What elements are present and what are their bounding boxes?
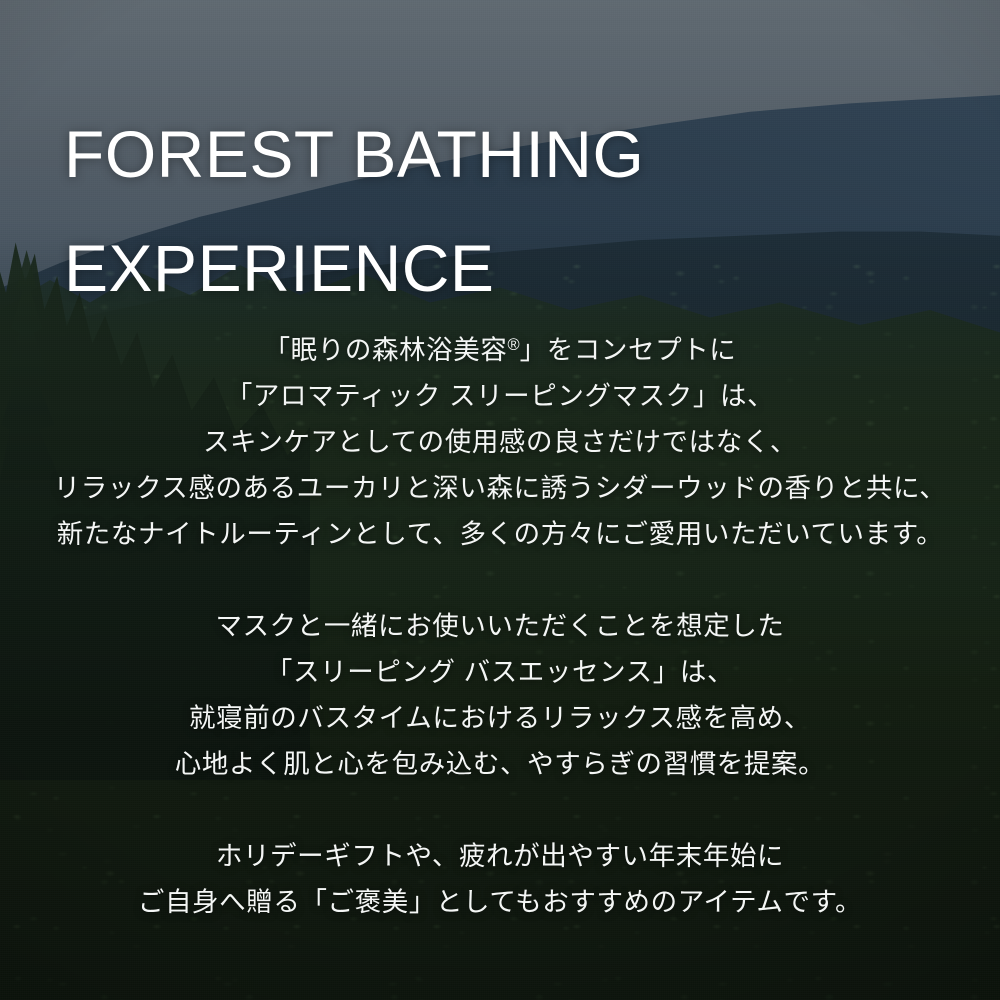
page-title: FOREST BATHING EXPERIENCE: [64, 98, 944, 325]
registered-trademark-mark: ®: [507, 336, 519, 354]
body-paragraph: 「眠りの森林浴美容®」をコンセプトに「アロマティック スリーピングマスク」は、ス…: [0, 322, 1000, 557]
body-line: スキンケアとしての使用感の良さだけではなく、: [0, 419, 1000, 465]
promo-banner: FOREST BATHING EXPERIENCE 「眠りの森林浴美容®」をコン…: [0, 0, 1000, 1000]
body-line: 「アロマティック スリーピングマスク」は、: [0, 373, 1000, 419]
body-line: 「眠りの森林浴美容®」をコンセプトに: [0, 322, 1000, 373]
banner-content: FOREST BATHING EXPERIENCE 「眠りの森林浴美容®」をコン…: [0, 0, 1000, 1000]
body-line: ご自身へ贈る「ご褒美」としてもおすすめのアイテムです。: [0, 879, 1000, 925]
body-line: 心地よく肌と心を包み込む、やすらぎの習慣を提案。: [0, 741, 1000, 787]
body-copy: 「眠りの森林浴美容®」をコンセプトに「アロマティック スリーピングマスク」は、ス…: [0, 322, 1000, 925]
body-line: 新たなナイトルーティンとして、多くの方々にご愛用いただいています。: [0, 511, 1000, 557]
body-paragraph: ホリデーギフトや、疲れが出やすい年末年始にご自身へ贈る「ご褒美」としてもおすすめ…: [0, 833, 1000, 925]
body-paragraph: マスクと一緒にお使いいただくことを想定した「スリーピング バスエッセンス」は、就…: [0, 603, 1000, 787]
body-line: マスクと一緒にお使いいただくことを想定した: [0, 603, 1000, 649]
body-line: 就寝前のバスタイムにおけるリラックス感を高め、: [0, 695, 1000, 741]
body-line: 「スリーピング バスエッセンス」は、: [0, 649, 1000, 695]
body-line: リラックス感のあるユーカリと深い森に誘うシダーウッドの香りと共に、: [0, 465, 1000, 511]
body-line: ホリデーギフトや、疲れが出やすい年末年始に: [0, 833, 1000, 879]
